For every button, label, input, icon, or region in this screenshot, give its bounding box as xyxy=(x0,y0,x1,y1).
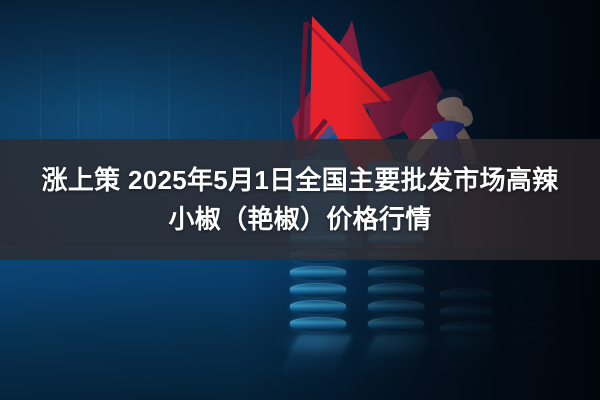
page-title: 涨上策 2025年5月1日全国主要批发市场高辣小椒（艳椒）价格行情 xyxy=(30,161,570,239)
title-overlay-band: 涨上策 2025年5月1日全国主要批发市场高辣小椒（艳椒）价格行情 xyxy=(0,139,600,260)
page-title-line-2: 椒（艳椒）价格行情 xyxy=(195,204,432,234)
article-thumbnail-banner: 涨上策 2025年5月1日全国主要批发市场高辣小椒（艳椒）价格行情 xyxy=(0,0,600,400)
